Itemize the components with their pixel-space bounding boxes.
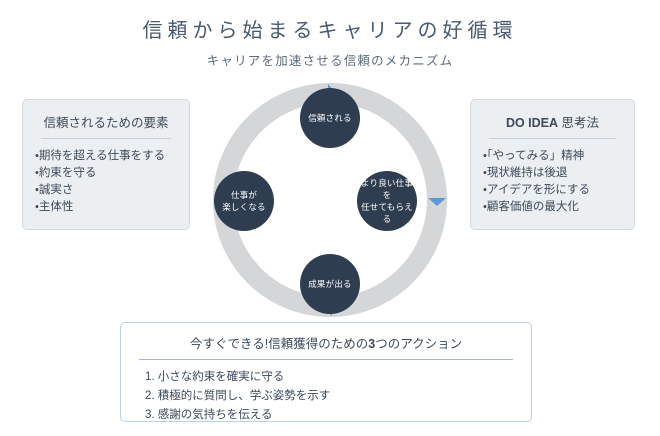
- panel-actions-title: 今すぐできる!信頼獲得のための3つのアクション: [139, 333, 513, 360]
- page-subtitle: キャリアを加速させる信頼のメカニズム: [0, 50, 660, 69]
- list-item: 感謝の気持ちを伝える: [145, 406, 515, 425]
- panel-trust-elements-list: 期待を超える仕事をする 約束を守る 誠実さ 主体性: [35, 148, 177, 216]
- list-item: 誠実さ: [35, 182, 177, 199]
- page-title: 信頼から始まるキャリアの好循環: [0, 14, 660, 43]
- list-item: 顧客価値の最大化: [483, 199, 622, 216]
- list-item: 主体性: [35, 199, 177, 216]
- list-item: 期待を超える仕事をする: [35, 148, 177, 165]
- cycle-node-better-work-line2: 任せてもらえる: [357, 201, 417, 225]
- list-item: 「やってみる」精神: [483, 148, 622, 165]
- cycle-node-trusted[interactable]: 信頼される: [300, 88, 360, 148]
- panel-actions-title-a: 今すぐできる!信頼獲得のための: [190, 337, 368, 351]
- cycle-node-trusted-line1: 信頼される: [308, 112, 352, 124]
- cycle-node-enjoyment-line1: 仕事が: [222, 189, 266, 201]
- panel-trust-elements-title: 信頼されるための要素: [41, 112, 171, 139]
- panel-actions-list: 小さな約束を確実に守る 積極的に質問し、学ぶ姿勢を示す 感謝の気持ちを伝える: [137, 368, 515, 425]
- infographic-canvas: 信頼から始まるキャリアの好循環 キャリアを加速させる信頼のメカニズム 信頼される…: [0, 0, 660, 436]
- panel-actions: 今すぐできる!信頼獲得のための3つのアクション 小さな約束を確実に守る 積極的に…: [120, 322, 532, 422]
- cycle-node-better-work[interactable]: より良い仕事を 任せてもらえる: [357, 171, 417, 231]
- panel-do-idea: DO IDEA 思考法 「やってみる」精神 現状維持は後退 アイデアを形にする …: [470, 99, 635, 230]
- panel-actions-title-b: つのアクション: [375, 337, 462, 351]
- list-item: 積極的に質問し、学ぶ姿勢を示す: [145, 387, 515, 406]
- list-item: 小さな約束を確実に守る: [145, 368, 515, 387]
- panel-do-idea-title-strong: DO IDEA: [506, 116, 558, 130]
- cycle-node-results-line1: 成果が出る: [308, 278, 352, 290]
- list-item: アイデアを形にする: [483, 182, 622, 199]
- cycle-node-enjoyment[interactable]: 仕事が 楽しくなる: [214, 171, 274, 231]
- panel-do-idea-title: DO IDEA 思考法: [489, 112, 616, 139]
- panel-trust-elements: 信頼されるための要素 期待を超える仕事をする 約束を守る 誠実さ 主体性: [22, 99, 190, 230]
- panel-do-idea-list: 「やってみる」精神 現状維持は後退 アイデアを形にする 顧客価値の最大化: [483, 148, 622, 216]
- cycle-node-results[interactable]: 成果が出る: [300, 254, 360, 314]
- list-item: 現状維持は後退: [483, 165, 622, 182]
- panel-do-idea-title-rest: 思考法: [558, 116, 599, 130]
- cycle-node-better-work-line1: より良い仕事を: [357, 177, 417, 201]
- list-item: 約束を守る: [35, 165, 177, 182]
- cycle-node-enjoyment-line2: 楽しくなる: [222, 201, 266, 213]
